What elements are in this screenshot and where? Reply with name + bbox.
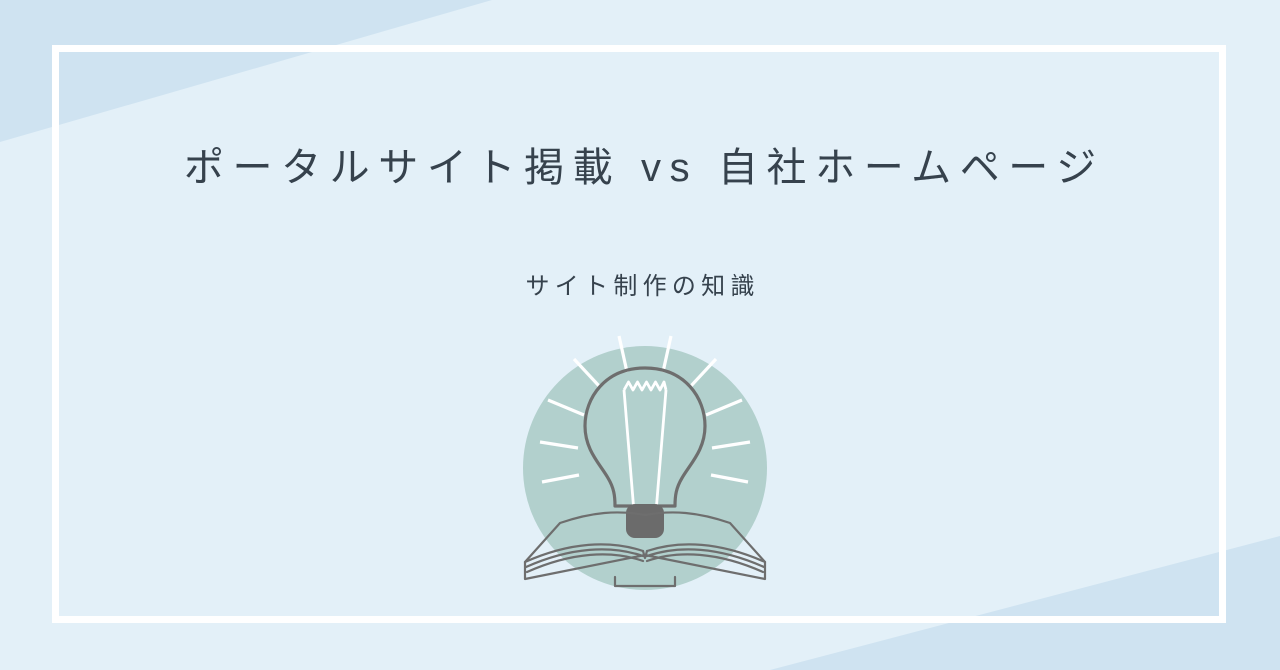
page-title: ポータルサイト掲載 vs 自社ホームページ — [0, 143, 1280, 193]
hero-illustration — [500, 330, 790, 605]
page-subtitle: サイト制作の知識 — [0, 266, 1280, 301]
lightbulb-base-icon — [626, 504, 664, 538]
thumbnail-canvas: ポータルサイト掲載 vs 自社ホームページ サイト制作の知識 — [0, 0, 1280, 670]
